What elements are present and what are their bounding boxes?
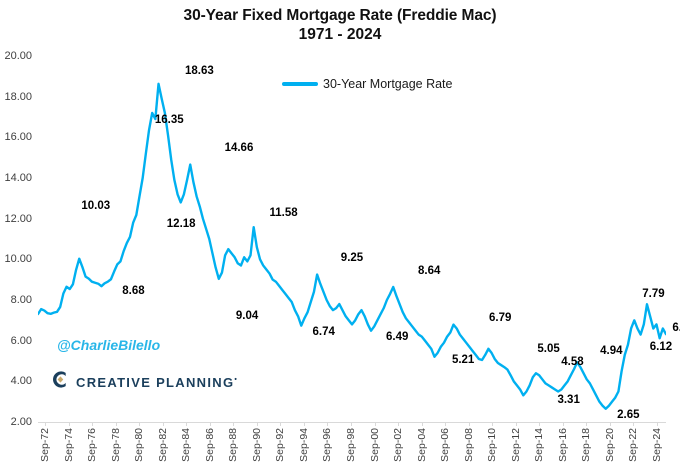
x-axis-tick-mark (398, 423, 399, 426)
y-axis-tick-label: 4.00 (11, 375, 32, 387)
x-axis-tick-mark (492, 423, 493, 426)
x-axis-tick-label: Sep-88 (227, 428, 239, 462)
data-point-label: 7.79 (642, 288, 664, 300)
x-axis-tick-mark (257, 423, 258, 426)
data-point-label: 11.58 (269, 207, 297, 219)
chart-title-subtitle: 1971 - 2024 (0, 25, 680, 44)
data-point-label: 6.74 (313, 326, 335, 338)
y-axis-tick-label: 16.00 (4, 131, 32, 143)
x-axis-tick-mark (163, 423, 164, 426)
data-point-label: 16.35 (155, 114, 184, 126)
x-axis-tick-label: Sep-86 (204, 428, 216, 462)
x-axis-tick-mark (139, 423, 140, 426)
x-axis-tick-label: Sep-80 (133, 428, 145, 462)
brand-name-text: CREATIVE PLANNING (76, 375, 234, 390)
y-axis-tick-label: 10.00 (4, 253, 32, 265)
x-axis-tick-label: Sep-18 (580, 428, 592, 462)
creative-planning-logo-icon (50, 370, 69, 394)
x-axis-tick-mark (633, 423, 634, 426)
x-axis-tick-label: Sep-84 (180, 428, 192, 462)
x-axis-tick-label: Sep-72 (39, 428, 51, 462)
data-point-label: 4.94 (600, 345, 622, 357)
x-axis-tick-mark (280, 423, 281, 426)
x-axis-tick-label: Sep-14 (533, 428, 545, 462)
x-axis-tick-label: Sep-78 (110, 428, 122, 462)
data-point-label: 5.05 (537, 343, 559, 355)
data-point-label: 14.66 (225, 142, 254, 154)
x-axis-tick-mark (469, 423, 470, 426)
x-axis-tick-label: Sep-24 (651, 428, 663, 462)
y-axis-tick-label: 14.00 (4, 172, 32, 184)
x-axis-tick-mark (657, 423, 658, 426)
data-point-label: 8.68 (122, 285, 144, 297)
x-axis-tick-mark (92, 423, 93, 426)
x-axis: Sep-72Sep-74Sep-76Sep-78Sep-80Sep-82Sep-… (0, 423, 680, 472)
x-axis-tick-mark (563, 423, 564, 426)
brand-trademark: • (234, 376, 238, 383)
chart-legend: 30-Year Mortgage Rate (282, 77, 452, 91)
data-point-label: 6.32 (672, 322, 680, 334)
x-axis-tick-mark (233, 423, 234, 426)
x-axis-tick-mark (586, 423, 587, 426)
x-axis-tick-mark (610, 423, 611, 426)
x-axis-tick-label: Sep-82 (157, 428, 169, 462)
x-axis-tick-label: Sep-06 (439, 428, 451, 462)
x-axis-tick-label: Sep-20 (604, 428, 616, 462)
y-axis-tick-label: 8.00 (11, 294, 32, 306)
x-axis-tick-mark (516, 423, 517, 426)
data-point-label: 6.49 (386, 331, 408, 343)
legend-label: 30-Year Mortgage Rate (323, 77, 452, 91)
x-axis-tick-label: Sep-16 (557, 428, 569, 462)
data-point-label: 4.58 (561, 356, 583, 368)
x-axis-tick-label: Sep-02 (392, 428, 404, 462)
x-axis-tick-label: Sep-90 (251, 428, 263, 462)
x-axis-tick-mark (445, 423, 446, 426)
data-point-label: 10.03 (81, 200, 110, 212)
chart-title-main: 30-Year Fixed Mortgage Rate (Freddie Mac… (0, 6, 680, 25)
x-axis-tick-label: Sep-74 (63, 428, 75, 462)
y-axis-tick-label: 20.00 (4, 50, 32, 62)
x-axis-tick-label: Sep-08 (463, 428, 475, 462)
x-axis-tick-label: Sep-96 (321, 428, 333, 462)
x-axis-tick-mark (45, 423, 46, 426)
data-point-label: 3.31 (557, 394, 579, 406)
data-point-label: 9.04 (236, 310, 258, 322)
x-axis-tick-mark (116, 423, 117, 426)
x-axis-tick-mark (422, 423, 423, 426)
plot-area: 10.038.6816.3518.6312.1814.669.0411.586.… (38, 56, 666, 422)
x-axis-tick-mark (69, 423, 70, 426)
x-axis-tick-mark (327, 423, 328, 426)
brand-lockup: CREATIVE PLANNING• (50, 370, 238, 394)
data-point-label: 8.64 (418, 265, 440, 277)
mortgage-rate-chart: 30-Year Fixed Mortgage Rate (Freddie Mac… (0, 0, 680, 472)
data-point-label: 18.63 (185, 65, 214, 77)
x-axis-tick-label: Sep-92 (274, 428, 286, 462)
y-axis-tick-label: 6.00 (11, 335, 32, 347)
data-point-label: 9.25 (341, 252, 363, 264)
x-axis-tick-label: Sep-76 (86, 428, 98, 462)
data-point-label: 2.65 (617, 409, 639, 421)
data-point-label: 5.21 (452, 354, 474, 366)
x-axis-tick-mark (351, 423, 352, 426)
x-axis-tick-mark (375, 423, 376, 426)
data-point-label: 6.12 (650, 341, 672, 353)
y-axis-tick-label: 18.00 (4, 91, 32, 103)
x-axis-tick-label: Sep-12 (510, 428, 522, 462)
x-axis-tick-label: Sep-10 (486, 428, 498, 462)
chart-title-block: 30-Year Fixed Mortgage Rate (Freddie Mac… (0, 6, 680, 44)
y-axis: 20.0018.0016.0014.0012.0010.008.006.004.… (0, 56, 36, 422)
x-axis-tick-label: Sep-22 (627, 428, 639, 462)
x-axis-tick-label: Sep-00 (369, 428, 381, 462)
y-axis-tick-label: 12.00 (4, 213, 32, 225)
x-axis-tick-label: Sep-04 (416, 428, 428, 462)
x-axis-tick-mark (186, 423, 187, 426)
x-axis-tick-mark (304, 423, 305, 426)
x-axis-tick-label: Sep-98 (345, 428, 357, 462)
author-handle: @CharlieBilello (57, 337, 160, 353)
data-point-label: 6.79 (489, 312, 511, 324)
x-axis-tick-label: Sep-94 (298, 428, 310, 462)
brand-name: CREATIVE PLANNING• (76, 375, 238, 390)
data-point-label: 12.18 (167, 218, 196, 230)
x-axis-tick-mark (539, 423, 540, 426)
legend-color-swatch (282, 82, 318, 86)
x-axis-tick-mark (210, 423, 211, 426)
